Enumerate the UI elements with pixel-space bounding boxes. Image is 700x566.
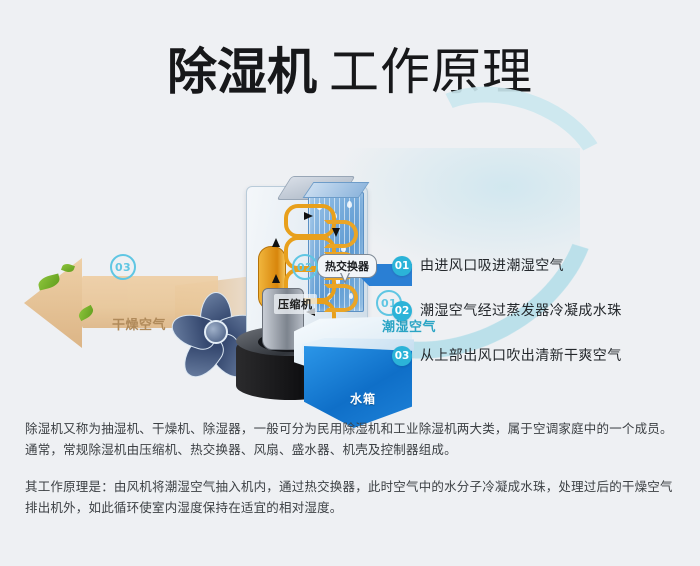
paragraph-line: 其工作原理是：由风机将潮湿空气抽入机内，通过热交换器，此时空气中的水分子冷凝成水… [25,476,685,497]
step-text: 从上部出风口吹出清新干爽空气 [420,345,622,365]
callout-tail-icon [340,273,350,284]
step-badge: 01 [392,256,412,276]
page-title-primary: 除湿机 [167,43,317,101]
water-tank-label: 水箱 [350,390,376,407]
fan-hub-icon [204,320,228,344]
list-item: 01 由进风口吸进潮湿空气 [392,255,692,300]
list-item: 02 潮湿空气经过蒸发器冷凝成水珠 [392,300,692,345]
description-text: 除湿机又称为抽湿机、干燥机、除湿器，一般可分为民用除湿机和工业除湿机两大类，属于… [25,418,685,534]
step-badge: 02 [392,301,412,321]
step-text: 由进风口吸进潮湿空气 [420,255,564,275]
page-title-secondary: 工作原理 [329,43,533,101]
paragraph-line: 排出机外，如此循环使室内湿度保持在适宜的相对湿度。 [25,497,685,518]
dehumidifier-unit: 水箱 压缩机 [232,168,412,398]
evaporator-top-face [303,182,370,198]
step-list: 01 由进风口吸进潮湿空气 02 潮湿空气经过蒸发器冷凝成水珠 03 从上部出风… [392,255,692,390]
diagram-badge-02: 02 [292,254,318,280]
step-badge: 03 [392,346,412,366]
page-title: 除湿机工作原理 [0,32,700,104]
diagram-badge-03: 03 [110,254,136,280]
paragraph-line: 除湿机又称为抽湿机、干燥机、除湿器，一般可分为民用除湿机和工业除湿机两大类，属于… [25,418,685,439]
paragraph: 其工作原理是：由风机将潮湿空气抽入机内，通过热交换器，此时空气中的水分子冷凝成水… [25,476,685,518]
paragraph-line: 通常，常规除湿机由压缩机、热交换器、风扇、盛水器、机壳及控制器组成。 [25,439,685,460]
paragraph: 除湿机又称为抽湿机、干燥机、除湿器，一般可分为民用除湿机和工业除湿机两大类，属于… [25,418,685,460]
list-item: 03 从上部出风口吹出清新干爽空气 [392,345,692,390]
dry-air-label: 干燥空气 [112,314,166,333]
compressor-label: 压缩机 [274,294,317,314]
step-text: 潮湿空气经过蒸发器冷凝成水珠 [420,300,622,320]
